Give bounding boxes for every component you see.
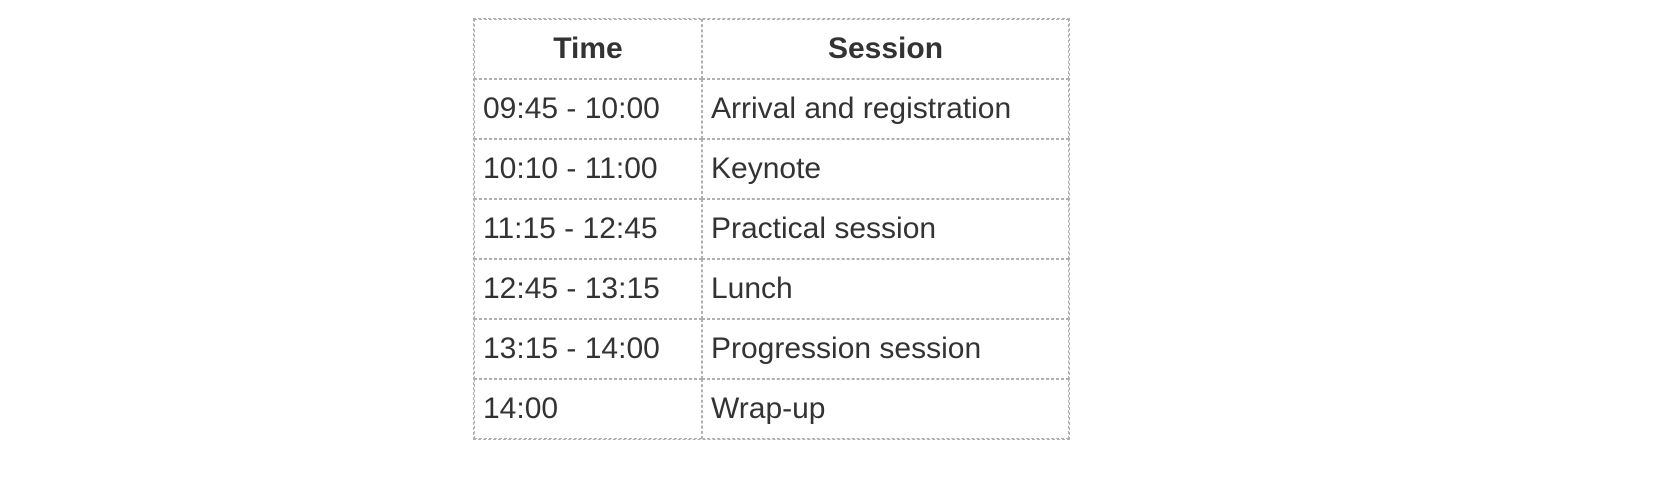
table-row: 10:10 - 11:00 Keynote — [474, 139, 1069, 199]
cell-time: 13:15 - 14:00 — [474, 319, 702, 379]
cell-time: 14:00 — [474, 379, 702, 439]
cell-session: Keynote — [702, 139, 1069, 199]
table-row: 12:45 - 13:15 Lunch — [474, 259, 1069, 319]
cell-time: 09:45 - 10:00 — [474, 79, 702, 139]
cell-session: Arrival and registration — [702, 79, 1069, 139]
header-row: Time Session — [474, 19, 1069, 79]
column-header-time: Time — [474, 19, 702, 79]
table-row: 09:45 - 10:00 Arrival and registration — [474, 79, 1069, 139]
table-row: 14:00 Wrap-up — [474, 379, 1069, 439]
table-row: 11:15 - 12:45 Practical session — [474, 199, 1069, 259]
table-row: 13:15 - 14:00 Progression session — [474, 319, 1069, 379]
cell-session: Wrap-up — [702, 379, 1069, 439]
cell-time: 12:45 - 13:15 — [474, 259, 702, 319]
cell-time: 11:15 - 12:45 — [474, 199, 702, 259]
page-canvas: Time Session 09:45 - 10:00 Arrival and r… — [0, 0, 1654, 488]
table-body: 09:45 - 10:00 Arrival and registration 1… — [474, 79, 1069, 439]
cell-session: Practical session — [702, 199, 1069, 259]
cell-time: 10:10 - 11:00 — [474, 139, 702, 199]
table-header: Time Session — [474, 19, 1069, 79]
cell-session: Progression session — [702, 319, 1069, 379]
schedule-table-container: Time Session 09:45 - 10:00 Arrival and r… — [473, 18, 1068, 440]
cell-session: Lunch — [702, 259, 1069, 319]
column-header-session: Session — [702, 19, 1069, 79]
schedule-table: Time Session 09:45 - 10:00 Arrival and r… — [473, 18, 1070, 440]
